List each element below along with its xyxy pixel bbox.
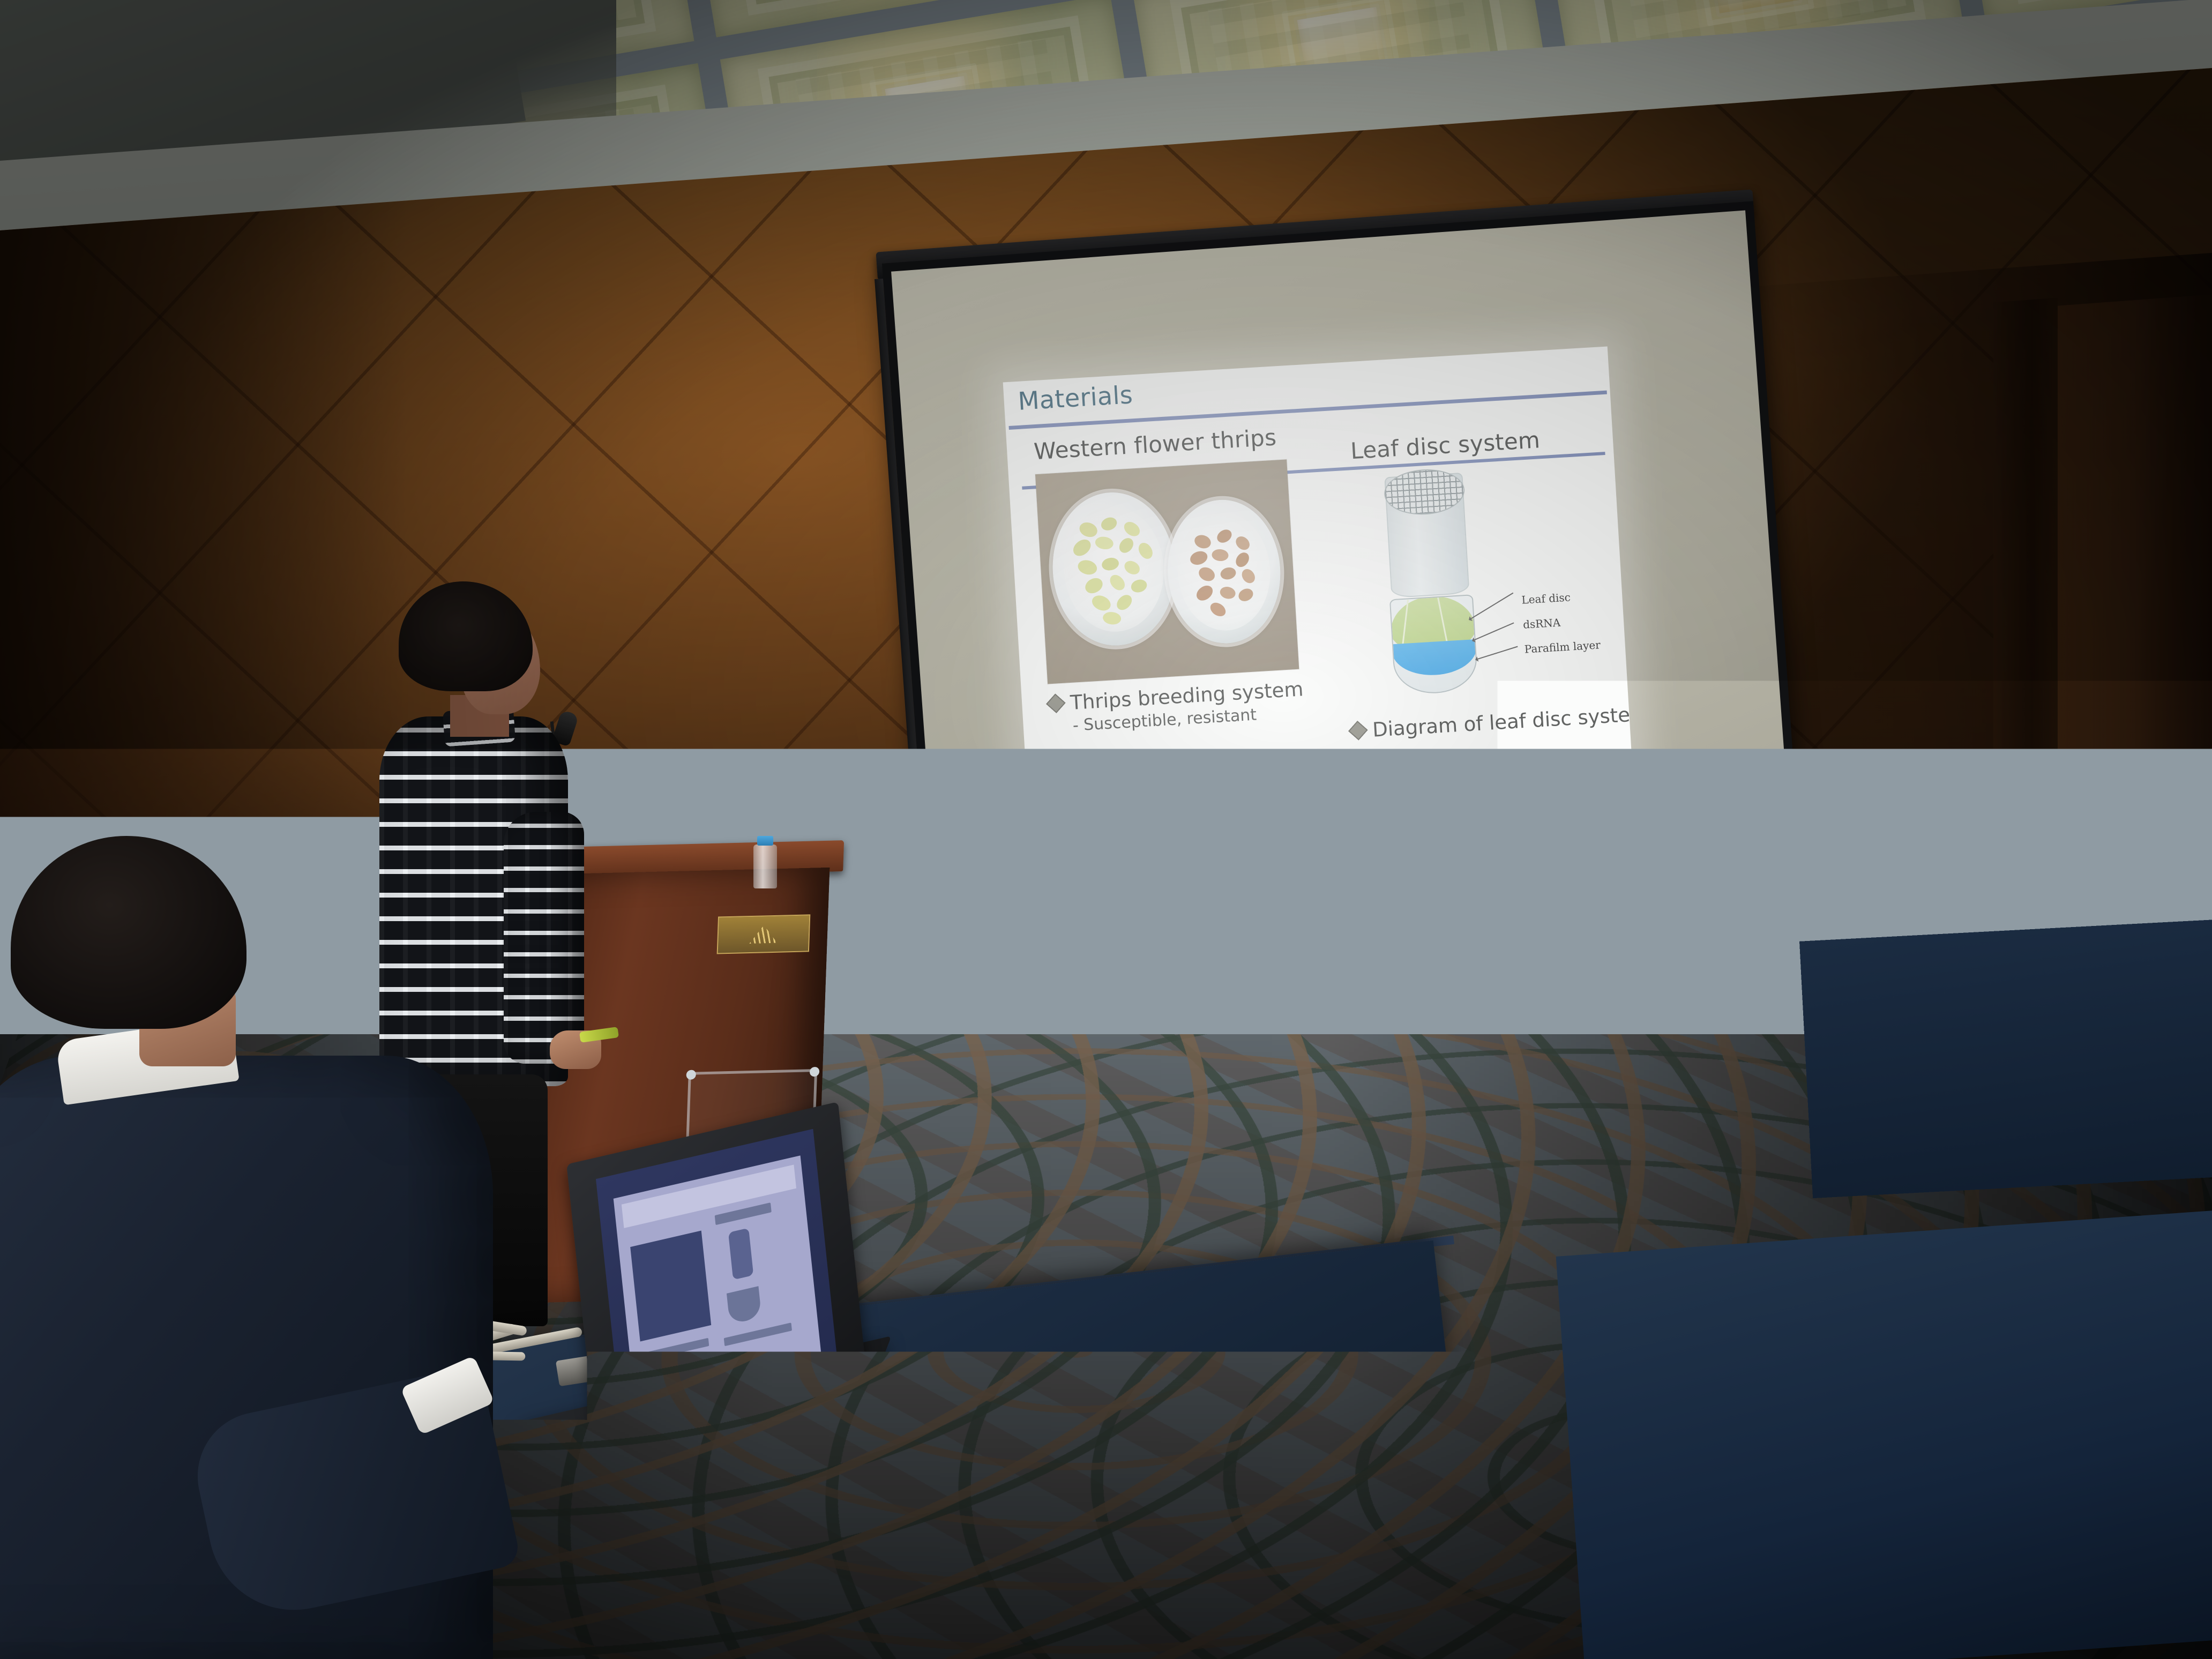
right-bullet-text: Diagram of leaf disc system <box>1372 702 1634 742</box>
leader-line-leaf-disc <box>1471 593 1514 619</box>
presenter-hair <box>399 581 533 691</box>
screen-surface: Materials Western flower thrips <box>891 210 1793 944</box>
right-section-heading: Leaf disc system <box>1334 423 1603 465</box>
mini-cup <box>727 1286 761 1325</box>
slide-left-column: Western flower thrips <box>1033 422 1329 736</box>
presenter-arm <box>504 812 584 1064</box>
leader-line-dsrna <box>1474 622 1514 640</box>
water-bottle <box>753 845 777 888</box>
venue-emblem-icon <box>749 925 778 944</box>
laptop-mirrored-slide <box>614 1155 821 1395</box>
right-bullet-row: Diagram of leaf disc system <box>1350 704 1619 743</box>
mini-petri-photo <box>630 1231 711 1342</box>
leaf-disc-cup-icon <box>1389 594 1478 696</box>
rear-skirted-table <box>1799 918 2212 1198</box>
laptop-lid <box>566 1102 870 1465</box>
mini-cylinder <box>728 1228 754 1280</box>
seated-attendee <box>0 825 461 1659</box>
leader-line-parafilm <box>1478 646 1518 660</box>
leaf-disc-diagram: Leaf disc dsRNA Parafilm layer <box>1336 461 1601 706</box>
right-skirted-table <box>1556 1209 2212 1659</box>
projected-slide: Materials Western flower thrips <box>1003 346 1635 838</box>
screen-frame: Materials Western flower thrips <box>882 201 1803 953</box>
conference-room-scene: Materials Western flower thrips <box>0 0 2212 1659</box>
petri-dish-left <box>1048 489 1179 649</box>
bottle-cap <box>757 836 773 846</box>
diamond-bullet-icon <box>1046 693 1066 713</box>
diamond-bullet-icon <box>1348 721 1368 741</box>
diagram-label-leaf-disc: Leaf disc <box>1521 591 1571 606</box>
projection-screen: Materials Western flower thrips <box>882 201 1803 953</box>
diagram-label-parafilm: Parafilm layer <box>1524 638 1601 655</box>
dsrna-layer <box>1392 639 1478 677</box>
diagram-label-dsrna: dsRNA <box>1522 616 1560 631</box>
slide-right-column: Leaf disc system <box>1334 423 1619 743</box>
remote-buttons[interactable] <box>1133 1513 1194 1549</box>
ceiling-lamp-icon <box>1706 0 1803 17</box>
petri-dish-photo <box>1035 459 1299 684</box>
mini-slide-header <box>622 1165 796 1228</box>
petri-dish-right <box>1164 497 1285 647</box>
left-section-heading: Western flower thrips <box>1033 422 1313 465</box>
attendee-hair <box>11 836 246 1029</box>
slide-body: Western flower thrips <box>1006 398 1634 838</box>
remote-display-slot <box>1074 1530 1117 1549</box>
lectern-emblem-plaque <box>717 914 811 954</box>
laptop-screen <box>596 1129 840 1432</box>
